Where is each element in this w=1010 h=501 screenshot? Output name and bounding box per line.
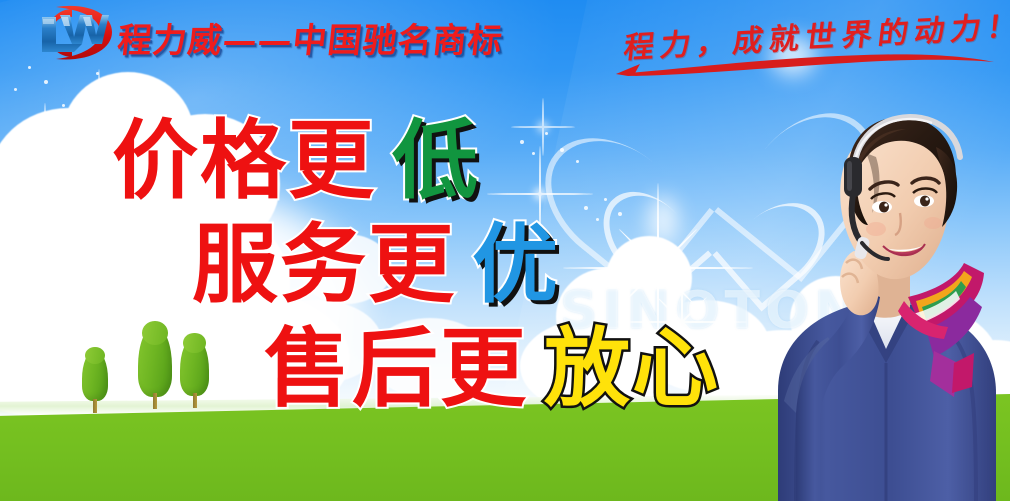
diagonal-light-sheen bbox=[483, 0, 1010, 501]
sparkle-dot bbox=[532, 152, 535, 155]
background-watermark: SINOTON bbox=[560, 281, 863, 341]
cloud-bank-left bbox=[0, 68, 330, 398]
cloud-left-glow bbox=[0, 180, 360, 420]
headline-2-accent: 优 bbox=[472, 215, 560, 315]
sparkle-star-1 bbox=[558, 168, 758, 368]
sparkle-dot bbox=[520, 140, 524, 144]
headline-line-2: 服务更优 bbox=[192, 222, 560, 308]
sparkle-dot bbox=[96, 72, 99, 75]
sparkle-star-2 bbox=[612, 252, 752, 392]
headline-stack: 价格更低 服务更优 售后更放心 bbox=[0, 0, 1010, 501]
headline-line-3: 售后更放心 bbox=[264, 326, 720, 412]
sparkle-star-7 bbox=[508, 92, 578, 162]
tree-icon bbox=[82, 351, 108, 413]
brand-tagline: 程力威——中国驰名商标 bbox=[115, 13, 505, 62]
sky-sheen-layer bbox=[0, 0, 658, 371]
sparkle-dot bbox=[604, 198, 607, 201]
sparkle-dot bbox=[560, 148, 564, 152]
headline-3-lead: 售后更 bbox=[264, 319, 528, 419]
headline-1-accent: 低 bbox=[392, 111, 480, 211]
sparkle-dot bbox=[545, 132, 548, 135]
sparkle-dot bbox=[618, 212, 622, 216]
heart-outline-large-icon bbox=[586, 41, 830, 263]
sparkle-dot bbox=[660, 268, 664, 272]
company-slogan: 程力，成就世界的动力！ bbox=[622, 1, 1010, 67]
promotional-banner: SINOTON bbox=[0, 0, 1010, 501]
sparkle-star-6 bbox=[606, 328, 696, 418]
headline-line-1: 价格更低 bbox=[112, 118, 480, 204]
tree-icon bbox=[180, 338, 209, 408]
sparkle-dot bbox=[14, 88, 17, 91]
headline-1-lead: 价格更 bbox=[112, 111, 376, 211]
sparkle-star-4 bbox=[36, 60, 162, 186]
headline-3-accent: 放心 bbox=[544, 319, 720, 419]
sparkle-dot bbox=[470, 126, 474, 130]
sparkle-star-5 bbox=[2, 96, 88, 182]
sparkle-dot bbox=[596, 218, 599, 221]
sparkle-dot bbox=[584, 206, 588, 210]
red-swoosh-underline-icon bbox=[614, 50, 996, 76]
sparkle-star-3 bbox=[482, 136, 598, 252]
headline-2-lead: 服务更 bbox=[192, 215, 456, 315]
heart-outline-small-icon bbox=[636, 143, 795, 287]
heart-glow-blob bbox=[770, 36, 816, 76]
sparkle-dot bbox=[28, 66, 31, 69]
customer-service-operator-photo bbox=[758, 101, 1010, 501]
sparkle-dot bbox=[62, 104, 65, 107]
tree-icon bbox=[138, 327, 172, 409]
company-logo[interactable] bbox=[12, 4, 116, 62]
sky-haze-layer bbox=[0, 0, 1010, 501]
grass-ground bbox=[0, 386, 1010, 501]
sparkle-dot bbox=[44, 80, 48, 84]
horizon-edge bbox=[0, 393, 1010, 415]
heart-glow-blob-2 bbox=[648, 196, 678, 244]
header-band: 程力威——中国驰名商标 程力，成就世界的动力！ bbox=[0, 0, 1010, 66]
sparkle-dot bbox=[576, 160, 579, 163]
